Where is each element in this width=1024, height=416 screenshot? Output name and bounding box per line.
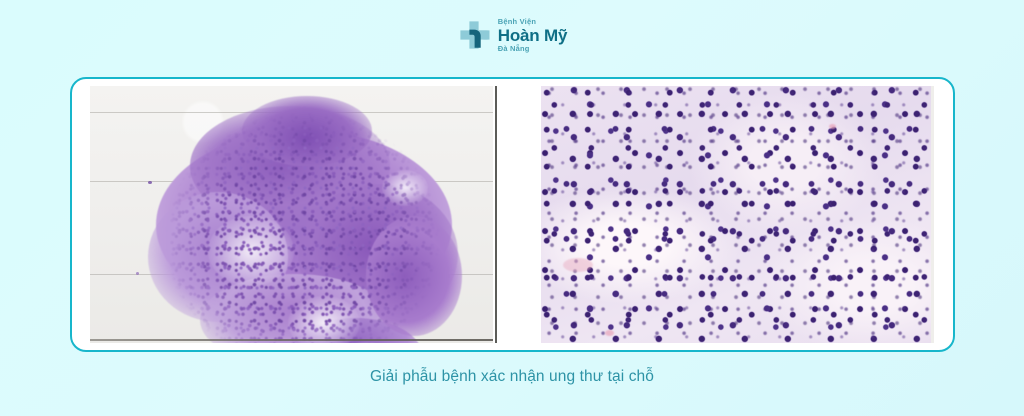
nuclear-speckle-texture bbox=[138, 96, 468, 343]
slide-background-right bbox=[541, 86, 934, 343]
medical-cross-icon bbox=[457, 18, 491, 52]
eosinophilic-spot bbox=[829, 124, 836, 129]
logo-group: Bệnh Viện Hoàn Mỹ Đà Nẵng bbox=[457, 18, 567, 52]
figure-caption: Giải phẫu bệnh xác nhận ung thư tại chỗ bbox=[0, 368, 1024, 386]
figure-frame bbox=[70, 77, 955, 352]
logo-line-main: Hoàn Mỹ bbox=[498, 27, 567, 44]
histology-panel-low-magnification bbox=[90, 86, 493, 343]
slide-right-margin bbox=[931, 86, 934, 343]
slide-background-left bbox=[90, 86, 493, 343]
eosinophilic-spot bbox=[563, 258, 593, 272]
nuclei-field-fine bbox=[541, 86, 934, 343]
eosinophilic-spot bbox=[605, 330, 614, 336]
debris-fleck bbox=[148, 181, 152, 184]
logo-line-sub: Đà Nẵng bbox=[498, 45, 567, 53]
brand-logo: Bệnh Viện Hoàn Mỹ Đà Nẵng bbox=[0, 18, 1024, 52]
logo-text-block: Bệnh Viện Hoàn Mỹ Đà Nẵng bbox=[498, 18, 567, 52]
logo-line-top: Bệnh Viện bbox=[498, 18, 567, 26]
debris-fleck bbox=[136, 272, 139, 275]
panel-divider bbox=[493, 86, 541, 343]
tissue-core-specimen bbox=[138, 96, 468, 343]
histology-panel-high-magnification bbox=[541, 86, 934, 343]
